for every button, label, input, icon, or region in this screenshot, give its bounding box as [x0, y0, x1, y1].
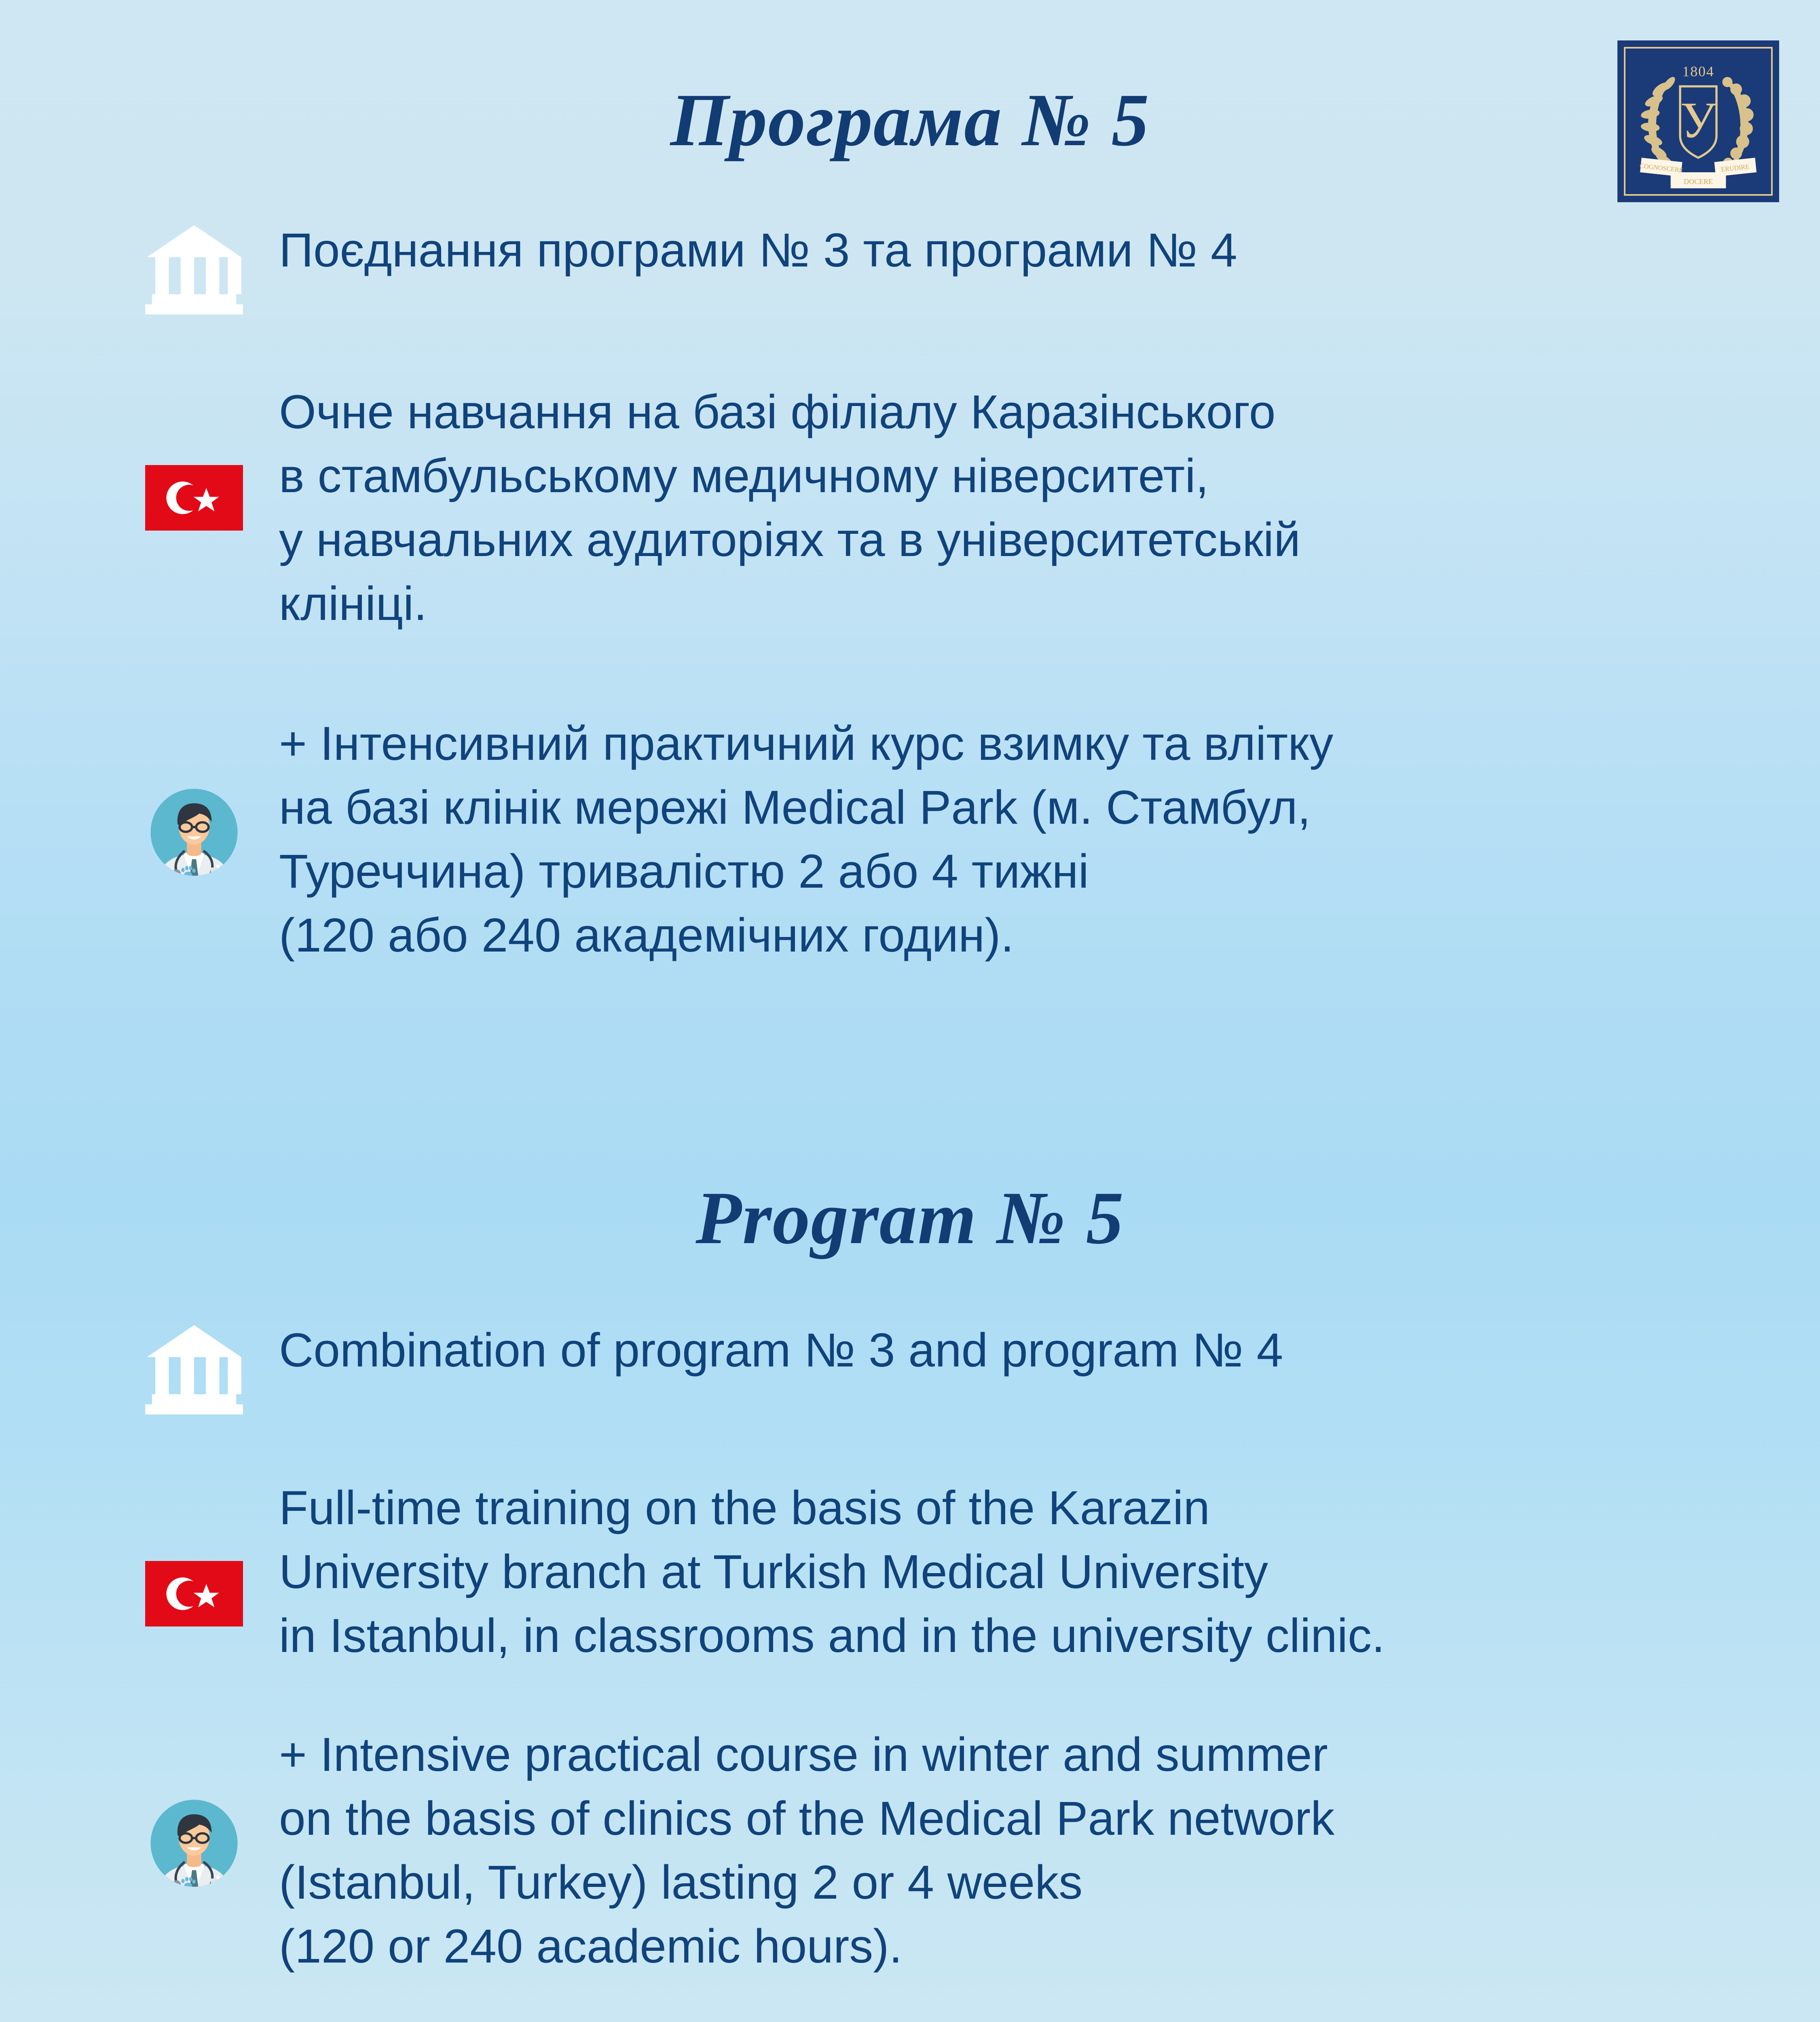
content-text-ua-2: Очне навчання на базі філіалу Каразінськ…: [279, 380, 1300, 636]
content-block-en-3: + Intensive practical course in winter a…: [109, 1723, 1767, 1978]
page-title-ukrainian: Програма № 5: [0, 77, 1820, 163]
page-title-english: Program № 5: [0, 1175, 1820, 1261]
icon-slot: [109, 380, 279, 531]
content-text-en-2: Full-time training on the basis of the K…: [279, 1476, 1385, 1668]
content-text-en-1: Combination of program № 3 and program №…: [279, 1318, 1283, 1382]
turkish-flag-icon: [145, 465, 243, 531]
turkish-flag-icon: [145, 1561, 243, 1626]
content-block-en-2: Full-time training on the basis of the K…: [109, 1476, 1767, 1668]
content-text-ua-1: Поєднання програми № 3 та програми № 4: [279, 218, 1237, 282]
content-block-ua-3: + Інтенсивний практичний курс взимку та …: [109, 712, 1767, 967]
doctor-avatar-icon: [142, 1791, 246, 1895]
content-block-ua-1: Поєднання програми № 3 та програми № 4: [109, 218, 1767, 315]
icon-slot: [109, 1318, 279, 1415]
bank-building-icon: [144, 1322, 245, 1415]
icon-slot: [109, 1476, 279, 1626]
svg-text:DOCERE: DOCERE: [1684, 178, 1713, 186]
bank-building-icon: [144, 222, 245, 315]
content-block-en-1: Combination of program № 3 and program №…: [109, 1318, 1767, 1415]
icon-slot: [109, 218, 279, 315]
slide-page: 1804: [0, 0, 1820, 2022]
content-text-en-3: + Intensive practical course in winter a…: [279, 1723, 1334, 1978]
icon-slot: [109, 1723, 279, 1895]
content-block-ua-2: Очне навчання на базі філіалу Каразінськ…: [109, 380, 1767, 636]
content-text-ua-3: + Інтенсивний практичний курс взимку та …: [279, 712, 1333, 967]
icon-slot: [109, 712, 279, 884]
doctor-avatar-icon: [142, 780, 246, 884]
